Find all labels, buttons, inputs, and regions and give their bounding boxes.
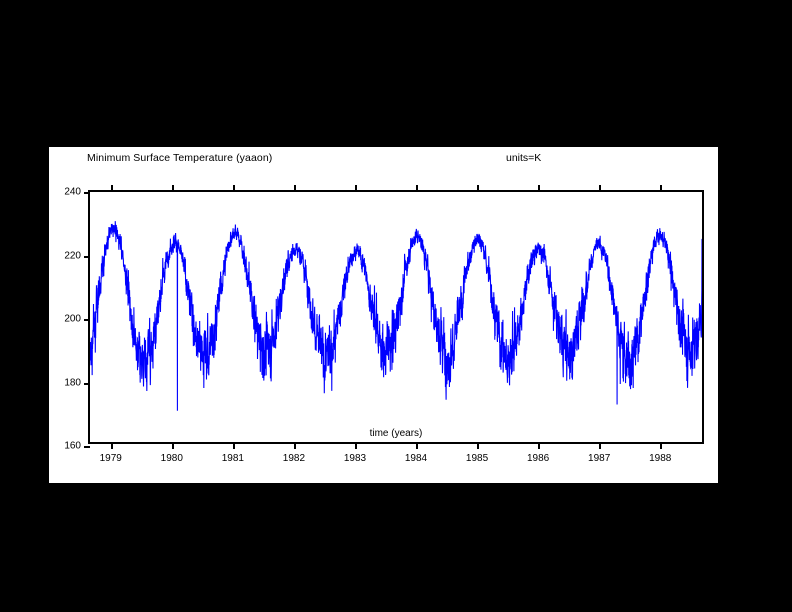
x-tick-mark-top bbox=[538, 185, 540, 192]
x-tick-mark-bottom bbox=[416, 442, 418, 449]
x-tick-mark-top bbox=[111, 185, 113, 192]
x-tick-mark-top bbox=[477, 185, 479, 192]
units-label: units=K bbox=[506, 152, 541, 164]
x-tick-label: 1981 bbox=[222, 453, 244, 464]
y-tick-mark bbox=[84, 256, 90, 258]
x-tick-label: 1987 bbox=[588, 453, 610, 464]
x-tick-mark-top bbox=[233, 185, 235, 192]
x-tick-mark-bottom bbox=[660, 442, 662, 449]
x-tick-mark-bottom bbox=[233, 442, 235, 449]
plot-card: Minimum Surface Temperature (yaaon) unit… bbox=[49, 147, 718, 483]
x-tick-mark-bottom bbox=[477, 442, 479, 449]
plot-area bbox=[90, 192, 702, 442]
x-tick-mark-bottom bbox=[599, 442, 601, 449]
x-axis-title: time (years) bbox=[370, 428, 423, 439]
y-tick-label: 160 bbox=[64, 441, 81, 452]
y-tick-mark bbox=[84, 192, 90, 194]
y-tick-label: 180 bbox=[64, 377, 81, 388]
y-tick-label: 220 bbox=[64, 250, 81, 261]
data-series-line bbox=[90, 192, 702, 442]
x-tick-mark-bottom bbox=[111, 442, 113, 449]
x-tick-label: 1979 bbox=[100, 453, 122, 464]
x-tick-label: 1984 bbox=[405, 453, 427, 464]
y-tick-mark bbox=[84, 446, 90, 448]
x-tick-mark-top bbox=[599, 185, 601, 192]
y-tick-mark bbox=[84, 319, 90, 321]
x-tick-mark-bottom bbox=[172, 442, 174, 449]
x-tick-mark-bottom bbox=[538, 442, 540, 449]
x-tick-mark-top bbox=[355, 185, 357, 192]
y-tick-mark bbox=[84, 383, 90, 385]
x-tick-mark-bottom bbox=[355, 442, 357, 449]
x-tick-label: 1985 bbox=[466, 453, 488, 464]
y-tick-label: 200 bbox=[64, 314, 81, 325]
x-tick-label: 1983 bbox=[344, 453, 366, 464]
chart-title: Minimum Surface Temperature (yaaon) bbox=[87, 152, 272, 164]
x-tick-mark-top bbox=[294, 185, 296, 192]
x-tick-label: 1980 bbox=[161, 453, 183, 464]
x-tick-mark-top bbox=[660, 185, 662, 192]
x-tick-label: 1988 bbox=[649, 453, 671, 464]
x-tick-mark-bottom bbox=[294, 442, 296, 449]
x-tick-mark-top bbox=[416, 185, 418, 192]
x-tick-mark-top bbox=[172, 185, 174, 192]
y-tick-label: 240 bbox=[64, 187, 81, 198]
x-tick-label: 1982 bbox=[283, 453, 305, 464]
x-tick-label: 1986 bbox=[527, 453, 549, 464]
axes-frame: 160180200220240 197919801981198219831984… bbox=[88, 190, 704, 444]
